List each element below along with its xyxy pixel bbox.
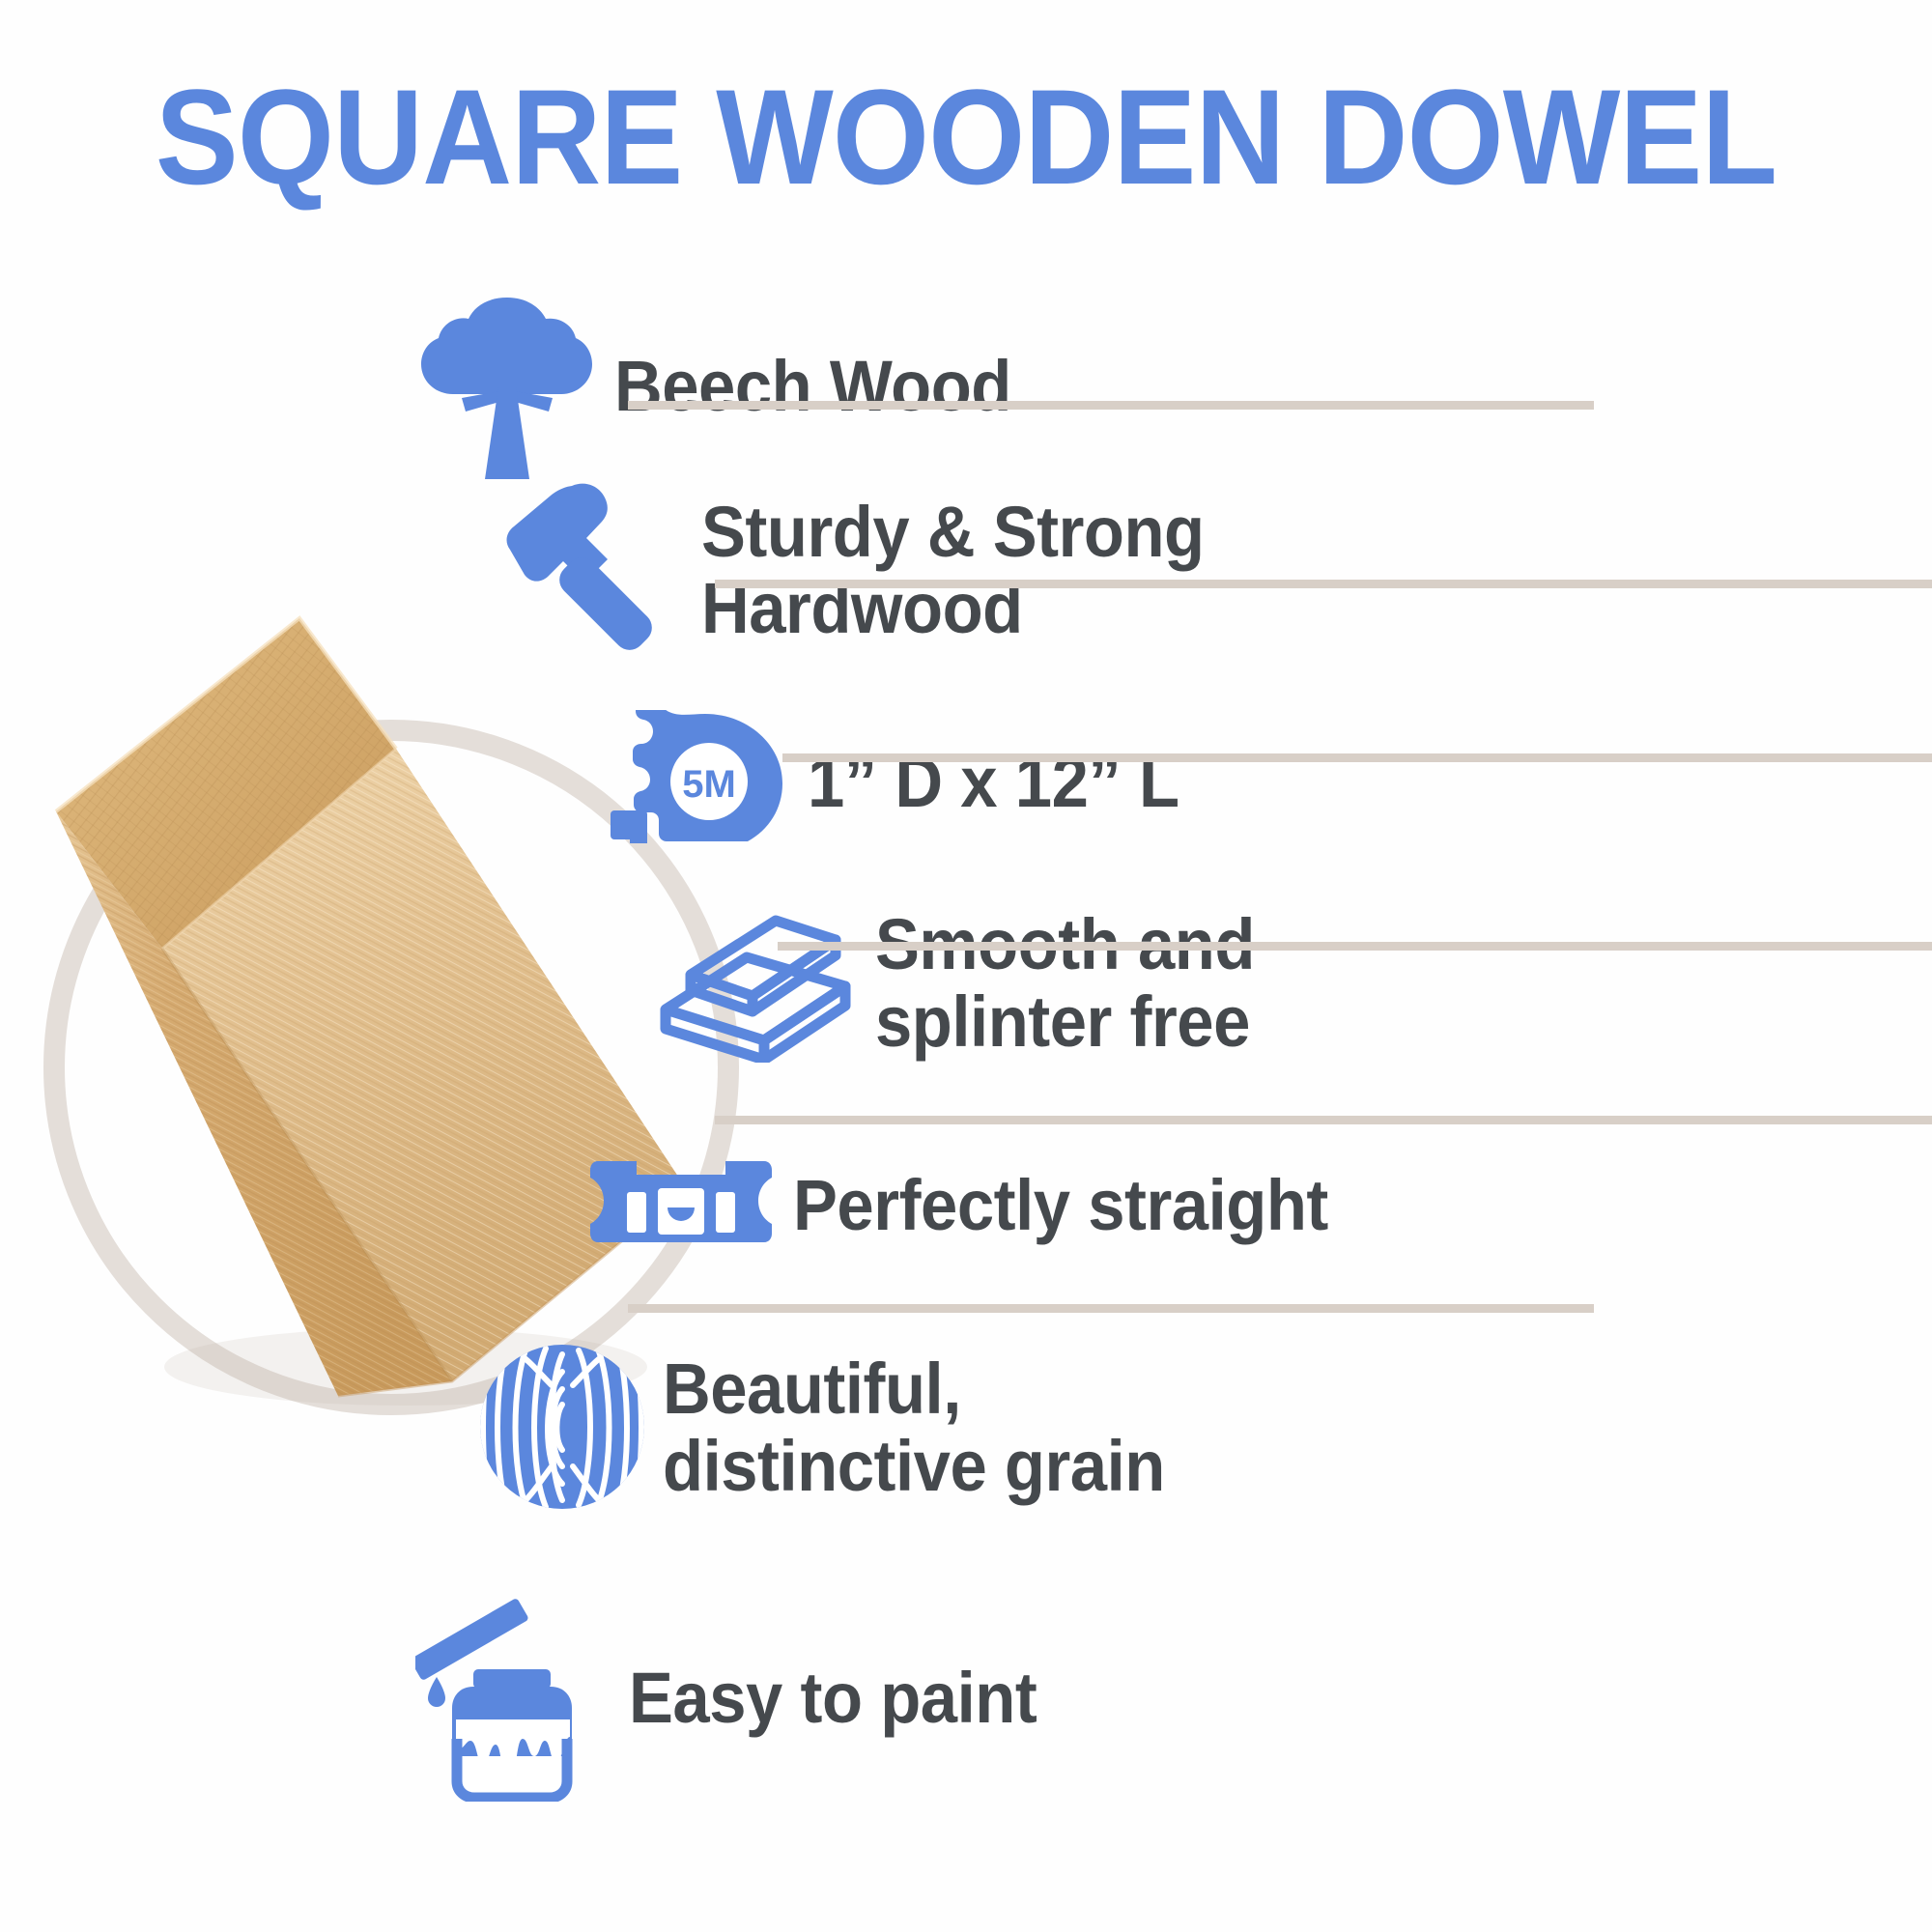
feature-row: Beautiful, distinctive grain xyxy=(478,1343,1203,1512)
feature-divider xyxy=(778,942,1932,951)
feature-divider xyxy=(715,580,1932,588)
feature-label: Beautiful, distinctive grain xyxy=(663,1350,1165,1503)
feature-divider xyxy=(628,1304,1594,1313)
hammer-icon xyxy=(493,478,686,662)
feature-label: Sturdy & Strong Hardwood xyxy=(701,494,1205,646)
infographic-page: SQUARE WOODEN DOWEL xyxy=(0,0,1932,1932)
feature-label: Smooth and splinter free xyxy=(875,906,1255,1059)
paint-can-icon xyxy=(415,1594,613,1802)
tree-icon xyxy=(415,290,599,483)
feature-divider xyxy=(715,1116,1932,1124)
feature-row: 5M 1” D x 12” L xyxy=(609,710,1207,855)
feature-divider xyxy=(782,753,1932,762)
feature-row: Smooth and splinter free xyxy=(652,903,1284,1063)
feature-row: Sturdy & Strong Hardwood xyxy=(493,478,1242,662)
feature-row: Easy to paint xyxy=(415,1594,1067,1802)
feature-row: Beech Wood xyxy=(415,290,1041,483)
feature-row: Perfectly straight xyxy=(584,1150,1369,1261)
page-title: SQUARE WOODEN DOWEL xyxy=(77,70,1855,205)
wood-planks-icon xyxy=(652,903,860,1063)
feature-label: Beech Wood xyxy=(614,348,1011,424)
feature-label: Easy to paint xyxy=(629,1660,1037,1736)
measuring-tape-icon: 5M xyxy=(609,710,792,855)
feature-label: Perfectly straight xyxy=(793,1167,1328,1243)
feature-list: Beech Wood Sturdy & Strong Hardwood xyxy=(415,290,1932,1913)
measuring-tape-label: 5M xyxy=(682,763,736,806)
spirit-level-icon xyxy=(584,1150,778,1261)
wood-grain-icon xyxy=(478,1343,647,1512)
feature-divider xyxy=(628,401,1594,410)
